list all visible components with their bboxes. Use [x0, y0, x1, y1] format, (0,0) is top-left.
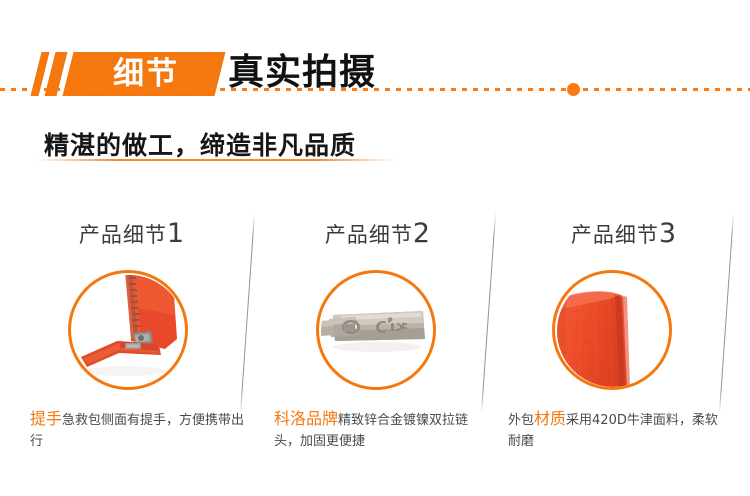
detail-heading-2: 产品细节2: [264, 218, 492, 249]
detail-caption-prefix-3: 外包: [508, 413, 534, 428]
detail-heading-1: 产品细节1: [18, 218, 246, 249]
detail-caption-highlight-3: 材质: [534, 409, 566, 428]
detail-photo-ring-2: [316, 270, 436, 390]
detail-caption-highlight-1: 提手: [30, 409, 62, 428]
detail-column-3: 产品细节3: [492, 210, 742, 485]
detail-column-2: 产品细节2: [250, 210, 500, 485]
detail-heading-3: 产品细节3: [510, 218, 738, 249]
detail-caption-text-1: 急救包侧面有提手，方便携带出行: [30, 413, 244, 449]
oxford-fabric-photo: [557, 275, 669, 387]
detail-caption-3: 外包材质采用420D牛津面料，柔软耐磨: [508, 408, 723, 452]
detail-caption-1: 提手急救包侧面有提手，方便携带出行: [30, 408, 245, 452]
detail-caption-highlight-2: 科洛品牌: [274, 409, 338, 428]
dashed-rule: [0, 88, 750, 91]
detail-heading-index-1: 1: [167, 218, 185, 249]
bag-handle-zipper-photo: [73, 275, 185, 387]
detail-column-1: 产品细节1: [10, 210, 260, 485]
detail-heading-label-3: 产品细节: [571, 223, 659, 247]
metal-zipper-pull-photo: [321, 275, 433, 387]
detail-caption-2: 科洛品牌精致锌合金镀镍双拉链头，加固更便捷: [274, 408, 489, 452]
detail-heading-index-3: 3: [659, 218, 677, 249]
dot-marker-icon: [567, 83, 580, 96]
detail-heading-label-2: 产品细节: [325, 223, 413, 247]
detail-heading-label-1: 产品细节: [79, 223, 167, 247]
section-subtitle: 精湛的做工，缔造非凡品质: [44, 126, 356, 162]
detail-heading-index-2: 2: [413, 218, 431, 249]
subtitle-underline: [36, 159, 396, 161]
detail-photo-ring-1: [68, 270, 188, 390]
header-banner: 细节 真实拍摄: [0, 22, 750, 92]
detail-section-page: 细节 真实拍摄 精湛的做工，缔造非凡品质 产品细节1: [0, 0, 750, 496]
detail-photo-ring-3: [552, 270, 672, 390]
